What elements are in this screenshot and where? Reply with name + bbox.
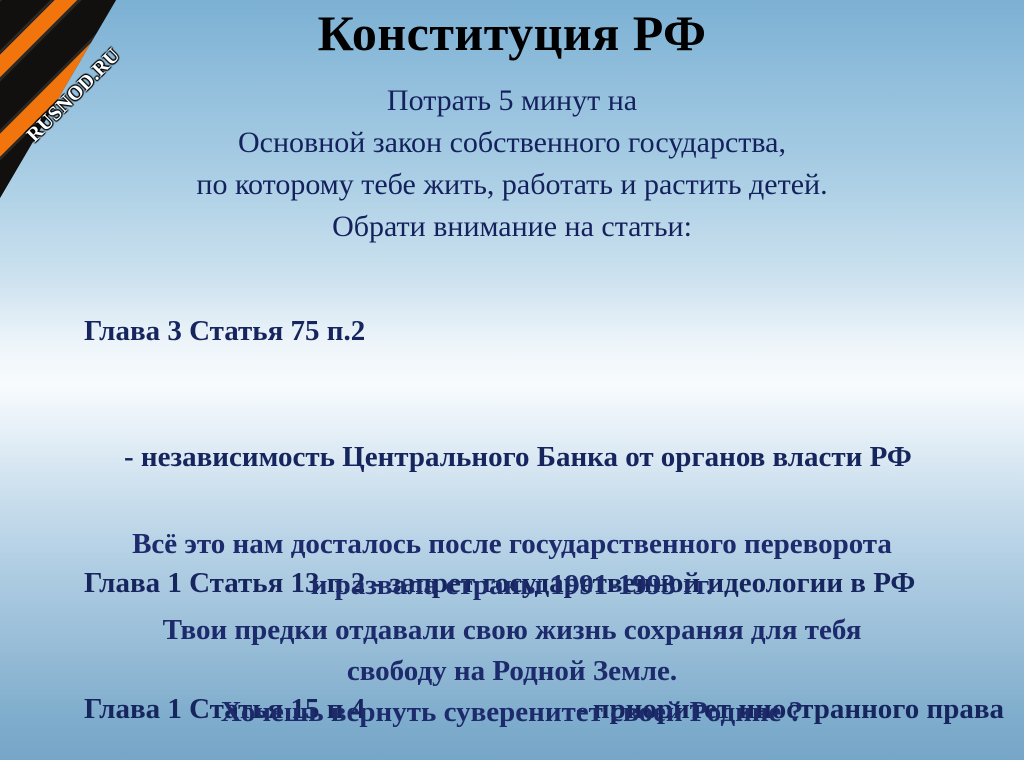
closing-line-1: Всё это нам досталось после государствен…	[0, 524, 1024, 565]
closing-line-2: и развала страны 1991-1993 гг.	[0, 565, 1024, 606]
closing-block: Всё это нам досталось после государствен…	[0, 524, 1024, 733]
intro-line-1: Потрать 5 минут на	[0, 80, 1024, 122]
closing-line-3: Твои предки отдавали свою жизнь сохраняя…	[0, 610, 1024, 651]
intro-line-4: Обрати внимание на статьи:	[0, 206, 1024, 248]
st-george-ribbon-stripes-icon	[0, 0, 120, 200]
poster-content: Конституция РФ Потрать 5 минут на Основн…	[0, 0, 1024, 760]
article-row-1-desc: - независимость Центрального Банка от ор…	[0, 394, 1024, 520]
poster-canvas: RUSNOD.RU Конституция РФ Потрать 5 минут…	[0, 0, 1024, 760]
page-title: Конституция РФ	[0, 8, 1024, 58]
article-row-1: Глава 3 Статья 75 п.2	[0, 268, 1024, 394]
article-ref-1: Глава 3 Статья 75 п.2	[58, 310, 365, 352]
ribbon-clip	[0, 0, 120, 200]
corner-ribbon	[0, 0, 120, 200]
intro-block: Потрать 5 минут на Основной закон собств…	[0, 80, 1024, 248]
closing-line-4: свободу на Родной Земле.	[0, 651, 1024, 692]
intro-line-3: по которому тебе жить, работать и растит…	[0, 164, 1024, 206]
intro-line-2: Основной закон собственного государства,	[0, 122, 1024, 164]
article-desc-1: - независимость Центрального Банка от ор…	[124, 441, 912, 473]
closing-line-5: Хочешь вернуть суверенитет своей Родине …	[0, 692, 1024, 733]
